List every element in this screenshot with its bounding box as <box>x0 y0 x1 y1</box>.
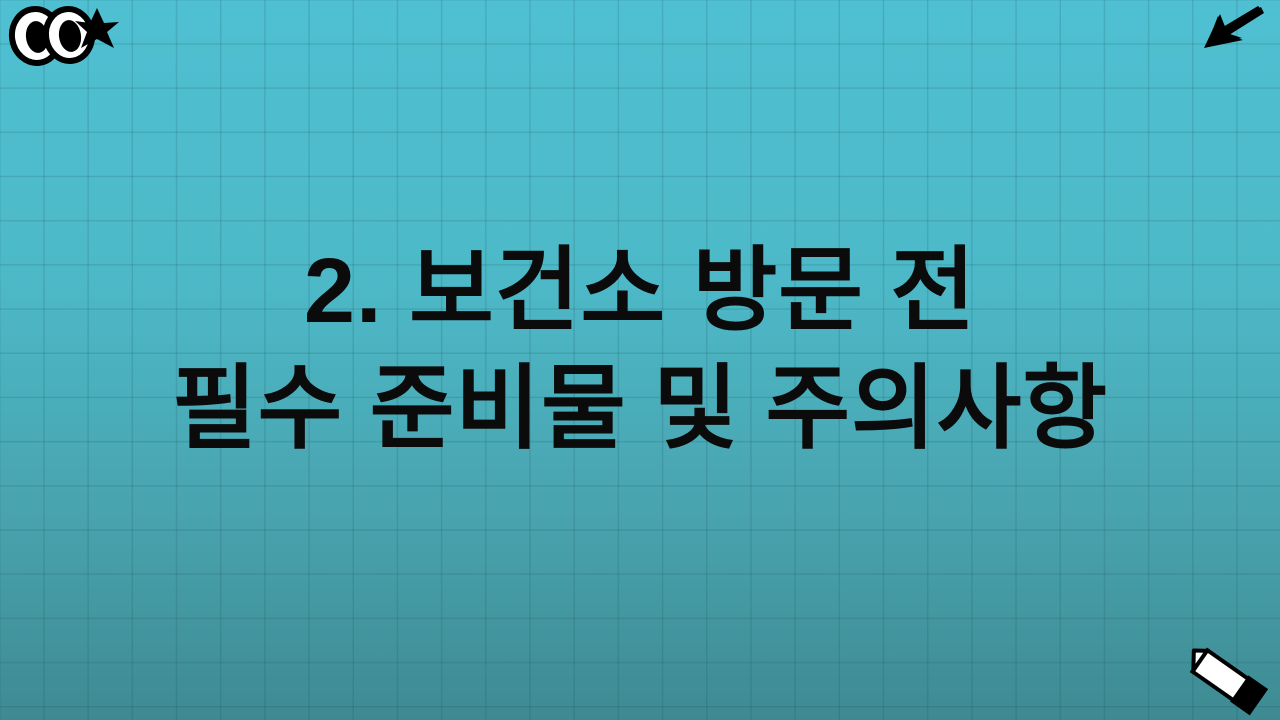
title-line-2: 필수 준비물 및 주의사항 <box>40 350 1240 468</box>
pencil-doodle-icon <box>1170 644 1274 716</box>
page-title: 2. 보건소 방문 전 필수 준비물 및 주의사항 <box>0 232 1280 468</box>
title-line-1: 2. 보건소 방문 전 <box>40 232 1240 350</box>
slide-canvas: 2. 보건소 방문 전 필수 준비물 및 주의사항 <box>0 0 1280 720</box>
arrow-doodle-icon <box>1200 4 1266 56</box>
star-doodle-icon <box>74 6 120 50</box>
